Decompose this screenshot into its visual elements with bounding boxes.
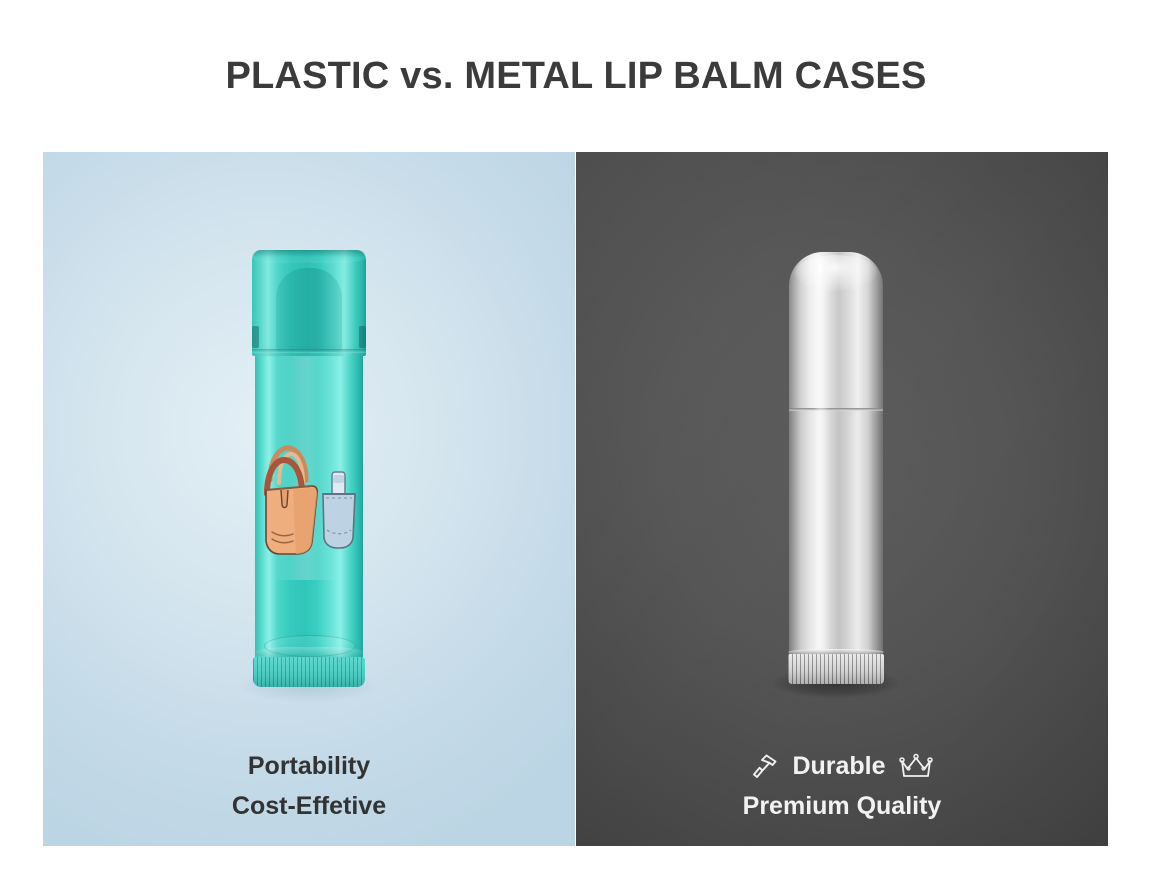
- panel-metal: Durable Premium Quality: [576, 152, 1108, 846]
- crown-icon: [898, 751, 934, 781]
- tube-ribbed-base: [253, 657, 365, 687]
- tube-barrel: [789, 404, 883, 660]
- plastic-caption-group: Portability Cost-Effetive: [43, 746, 575, 826]
- tube-specular-sheen: [813, 258, 829, 658]
- tube-inner-dome: [276, 268, 342, 352]
- caption-premium-quality: Premium Quality: [576, 786, 1108, 826]
- panel-plastic: Portability Cost-Effetive: [43, 152, 575, 846]
- caption-durable-label: Durable: [792, 746, 885, 786]
- page-title: PLASTIC vs. METAL LIP BALM CASES: [225, 55, 926, 98]
- teal-plastic-lip-balm-tube: [252, 250, 366, 687]
- caption-durable-row: Durable: [576, 746, 1108, 786]
- hammer-icon: [750, 751, 780, 781]
- metal-caption-group: Durable Premium Quality: [576, 746, 1108, 826]
- tube-label-illustration: [260, 438, 358, 570]
- plastic-product-stage: [43, 152, 575, 712]
- comparison-panels: Portability Cost-Effetive: [43, 152, 1108, 846]
- silver-metal-lip-balm-tube: [789, 252, 883, 684]
- tube-collar-nub-left: [252, 326, 259, 348]
- tube-cap-seam: [252, 349, 366, 353]
- tube-cap-seam: [789, 408, 883, 411]
- tube-ribbed-base: [788, 654, 884, 684]
- tube-cap-top-rim: [252, 250, 366, 263]
- handbag-illustration: [266, 448, 317, 554]
- title-bar: PLASTIC vs. METAL LIP BALM CASES: [0, 0, 1152, 152]
- metal-product-stage: [576, 152, 1108, 712]
- tube-collar-nub-right: [359, 326, 366, 348]
- tube-cap-highlight: [795, 255, 877, 291]
- caption-cost-effective: Cost-Effetive: [43, 786, 575, 826]
- denim-pocket-illustration: [323, 472, 355, 548]
- caption-portability: Portability: [43, 746, 575, 786]
